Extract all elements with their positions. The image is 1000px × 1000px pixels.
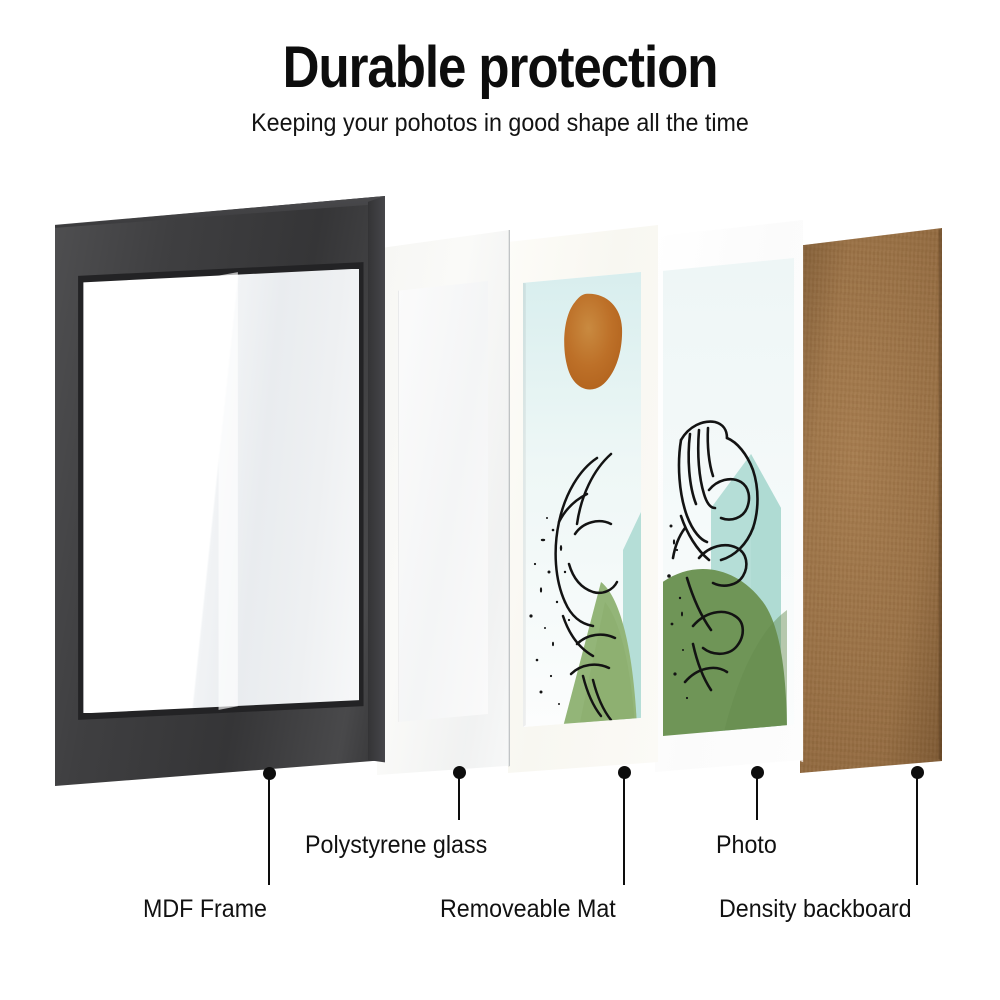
exploded-view-diagram: MDF Frame Polystyrene glass Removeable M… <box>0 0 1000 1000</box>
leader-dot <box>911 766 924 779</box>
leader-dot <box>263 767 276 780</box>
callout-label-removeable-mat: Removeable Mat <box>440 895 616 924</box>
leader-dot <box>618 766 631 779</box>
leader-line <box>623 772 625 885</box>
artwork-illustration-mat <box>523 272 641 727</box>
frame-right-face <box>368 196 385 786</box>
leader-line <box>268 773 270 885</box>
callout-label-density-backboard: Density backboard <box>719 895 912 924</box>
callout-label-photo: Photo <box>716 831 777 860</box>
mat-window-opening <box>523 272 641 727</box>
leader-line <box>458 772 460 820</box>
photo-artwork-area <box>663 258 794 736</box>
leader-line <box>756 772 758 820</box>
callout-label-polystyrene-glass: Polystyrene glass <box>305 831 487 860</box>
glass-inner-panel <box>398 281 488 722</box>
artwork-illustration-photo <box>663 258 794 736</box>
layer-mdf-frame <box>55 196 385 786</box>
callout-label-mdf-frame: MDF Frame <box>143 895 267 924</box>
leader-line <box>916 772 918 885</box>
backboard-shading <box>800 228 942 773</box>
leader-dot <box>453 766 466 779</box>
leader-dot <box>751 766 764 779</box>
